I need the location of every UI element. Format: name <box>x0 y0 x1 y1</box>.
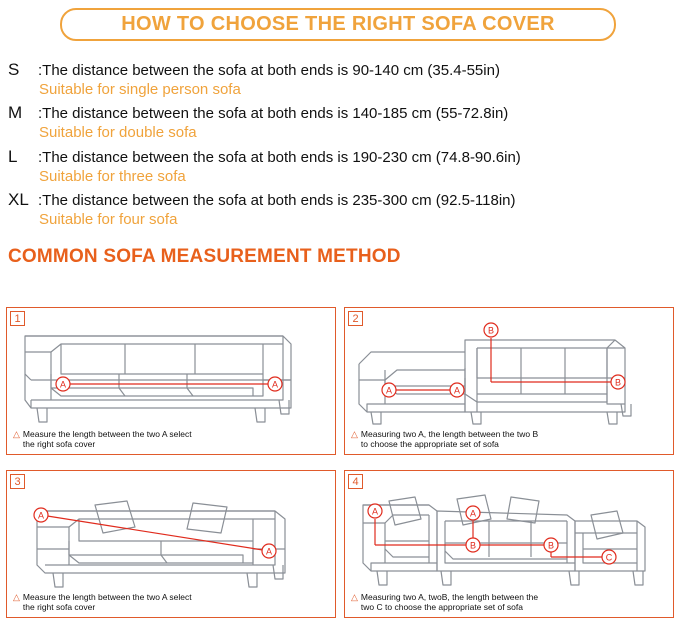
header-title: HOW TO CHOOSE THE RIGHT SOFA COVER <box>121 13 555 36</box>
warning-triangle-icon: △ <box>13 592 20 603</box>
panel-4-number: 4 <box>348 474 363 489</box>
size-sub-m: Suitable for double sofa <box>39 123 678 143</box>
svg-text:A: A <box>454 386 460 396</box>
panel-3-caption: △ Measure the length between the two A s… <box>13 592 329 613</box>
panel-3-number: 3 <box>10 474 25 489</box>
panel-4-caption-text: Measuring two A, twoB, the length betwee… <box>361 592 538 613</box>
size-key-m: M <box>8 103 38 123</box>
size-key-s: S <box>8 60 38 80</box>
svg-text:A: A <box>60 380 66 390</box>
size-key-xl: XL <box>8 190 38 210</box>
panel-2-number: 2 <box>348 311 363 326</box>
svg-text:C: C <box>606 553 613 563</box>
size-sub-s: Suitable for single person sofa <box>39 80 678 100</box>
panel-2-illustration: A A B B <box>345 308 675 433</box>
panel-4: 4 <box>344 470 674 618</box>
size-row-l: L :The distance between the sofa at both… <box>8 147 678 187</box>
warning-triangle-icon: △ <box>351 592 358 603</box>
size-guide-list: S :The distance between the sofa at both… <box>8 60 678 233</box>
panel-3: 3 <box>6 470 336 618</box>
warning-triangle-icon: △ <box>351 429 358 440</box>
size-row-s: S :The distance between the sofa at both… <box>8 60 678 100</box>
svg-text:A: A <box>372 507 378 517</box>
svg-text:A: A <box>470 509 476 519</box>
panel-3-caption-text: Measure the length between the two A sel… <box>23 592 192 613</box>
panel-2-caption-text: Measuring two A, the length between the … <box>361 429 538 450</box>
panel-1-caption: △ Measure the length between the two A s… <box>13 429 329 450</box>
size-row-xl: XL :The distance between the sofa at bot… <box>8 190 678 230</box>
panel-1-number: 1 <box>10 311 25 326</box>
size-key-l: L <box>8 147 38 167</box>
warning-triangle-icon: △ <box>13 429 20 440</box>
panel-4-caption: △ Measuring two A, twoB, the length betw… <box>351 592 667 613</box>
svg-text:A: A <box>272 380 278 390</box>
size-desc-l: :The distance between the sofa at both e… <box>38 149 521 166</box>
svg-text:B: B <box>548 541 554 551</box>
size-row-m: M :The distance between the sofa at both… <box>8 103 678 143</box>
svg-text:B: B <box>470 541 476 551</box>
svg-text:A: A <box>386 386 392 396</box>
size-sub-l: Suitable for three sofa <box>39 167 678 187</box>
panel-4-illustration: A A B B C <box>345 471 675 596</box>
infographic-root: HOW TO CHOOSE THE RIGHT SOFA COVER S :Th… <box>0 0 679 637</box>
svg-text:B: B <box>615 378 621 388</box>
svg-text:A: A <box>38 511 44 521</box>
svg-text:A: A <box>266 547 272 557</box>
size-desc-s: :The distance between the sofa at both e… <box>38 62 500 79</box>
size-desc-xl: :The distance between the sofa at both e… <box>38 192 516 209</box>
svg-text:B: B <box>488 326 494 336</box>
panel-2: 2 <box>344 307 674 455</box>
panel-1: 1 <box>6 307 336 455</box>
panel-1-caption-text: Measure the length between the two A sel… <box>23 429 192 450</box>
panel-1-illustration: A A <box>7 308 337 433</box>
size-desc-m: :The distance between the sofa at both e… <box>38 105 508 122</box>
panel-2-caption: △ Measuring two A, the length between th… <box>351 429 667 450</box>
size-sub-xl: Suitable for four sofa <box>39 210 678 230</box>
header-banner: HOW TO CHOOSE THE RIGHT SOFA COVER <box>60 8 616 41</box>
panel-3-illustration: A A <box>7 471 337 596</box>
section-title: COMMON SOFA MEASUREMENT METHOD <box>8 246 401 268</box>
